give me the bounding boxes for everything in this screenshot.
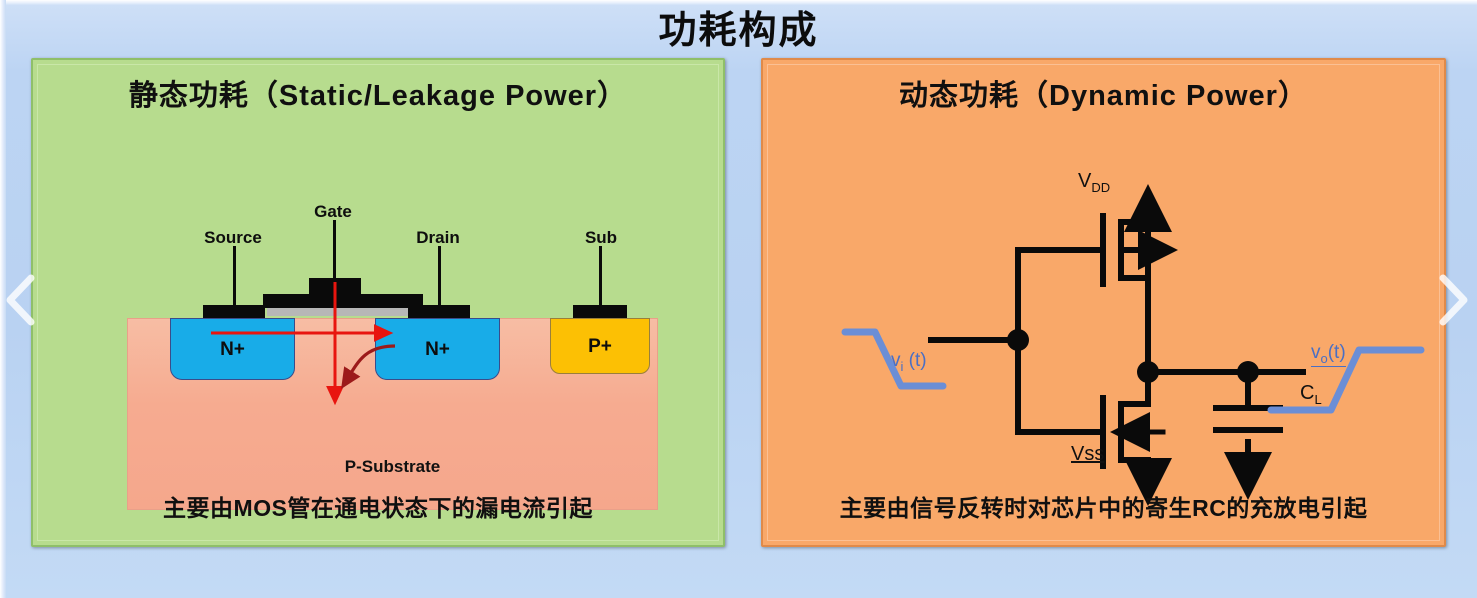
panel-static-power: 静态功耗（Static/Leakage Power） P-Substrate N… — [31, 58, 725, 547]
vss-label: Vss — [1071, 443, 1104, 466]
chevron-left-icon[interactable] — [2, 272, 42, 328]
mosfet-cross-section-diagram: P-Substrate N+ N+ P+ — [95, 150, 661, 495]
output-node-dot — [1137, 361, 1159, 383]
output-signal-label: vo(t) — [1311, 342, 1346, 367]
panel-caption-static: 主要由MOS管在通电状态下的漏电流引起 — [33, 489, 723, 523]
page-title: 功耗构成 — [0, 6, 1477, 56]
cmos-inverter-diagram: VDD Vss CL vi (t) vo(t) — [803, 110, 1403, 500]
load-capacitor-label: CL — [1300, 382, 1322, 407]
vdd-label: VDD — [1078, 170, 1110, 195]
panel-dynamic-power: 动态功耗（Dynamic Power） — [761, 58, 1446, 547]
junction-leakage-arrow — [343, 346, 395, 386]
slide-canvas: 功耗构成 静态功耗（Static/Leakage Power） P-Substr… — [0, 0, 1477, 598]
input-signal-label: vi (t) — [891, 350, 927, 374]
chevron-right-icon[interactable] — [1432, 272, 1472, 328]
panel-title-dynamic: 动态功耗（Dynamic Power） — [763, 72, 1444, 114]
prev-slide-button[interactable] — [2, 272, 42, 328]
panel-caption-dynamic: 主要由信号反转时对芯片中的寄生RC的充放电引起 — [763, 489, 1444, 523]
cmos-inverter-schematic — [803, 110, 1403, 500]
output-waveform — [1271, 350, 1421, 410]
panel-title-static: 静态功耗（Static/Leakage Power） — [33, 72, 723, 114]
input-node-dot — [1007, 329, 1029, 351]
leakage-arrows-overlay — [95, 150, 661, 495]
cap-node-dot — [1237, 361, 1259, 383]
next-slide-button[interactable] — [1432, 272, 1472, 328]
